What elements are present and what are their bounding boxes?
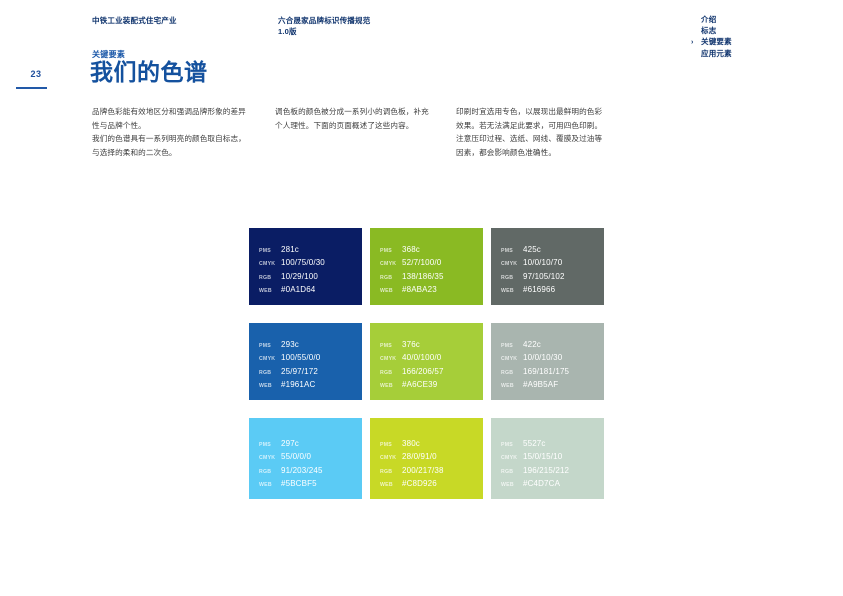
- spec-label-rgb: RGB: [380, 368, 402, 380]
- body-column-printing-notes: 印刷时宜选用专色，以展现出最鲜明的色彩效果。若无法满足此要求，可用四色印刷。 注…: [456, 105, 608, 159]
- spec-label-pms: PMS: [259, 341, 281, 353]
- swatch-spec-web: WEB #A6CE39: [380, 379, 483, 393]
- header-document-info: 六合晟家品牌标识传播规范 1.0版: [278, 15, 370, 37]
- spec-value-rgb: 10/29/100: [281, 271, 318, 283]
- spec-value-cmyk: 15/0/15/10: [523, 451, 562, 463]
- spec-label-web: WEB: [380, 480, 402, 492]
- folio: 23: [16, 68, 56, 89]
- nav-item-label: 关键要素: [701, 37, 732, 46]
- spec-value-cmyk: 52/7/100/0: [402, 257, 441, 269]
- spec-label-web: WEB: [380, 381, 402, 393]
- header-document-version: 1.0版: [278, 26, 370, 37]
- nav-item-label: 应用元素: [701, 49, 732, 58]
- section-nav: › 介绍 › 标志 › 关键要素 › 应用元素: [691, 14, 801, 59]
- swatch-spec-rgb: RGB 200/217/38: [380, 465, 483, 479]
- spec-value-web: #1961AC: [281, 379, 315, 391]
- swatch-spec-pms: PMS 5527c: [501, 438, 604, 452]
- nav-item-introduction[interactable]: › 介绍: [691, 14, 801, 25]
- swatch-297c[interactable]: PMS 297c CMYK 55/0/0/0 RGB 91/203/245 WE…: [249, 418, 362, 499]
- spec-label-rgb: RGB: [259, 368, 281, 380]
- spec-label-pms: PMS: [380, 440, 402, 452]
- swatch-spec-cmyk: CMYK 10/0/10/30: [501, 352, 604, 366]
- swatch-spec-cmyk: CMYK 55/0/0/0: [259, 451, 362, 465]
- page-number: 23: [16, 68, 56, 80]
- swatch-293c[interactable]: PMS 293c CMYK 100/55/0/0 RGB 25/97/172 W…: [249, 323, 362, 400]
- swatch-368c[interactable]: PMS 368c CMYK 52/7/100/0 RGB 138/186/35 …: [370, 228, 483, 305]
- swatch-spec-pms: PMS 422c: [501, 339, 604, 353]
- spec-value-rgb: 169/181/175: [523, 366, 569, 378]
- spec-label-cmyk: CMYK: [501, 453, 523, 465]
- body-paragraph: 我们的色谱具有一系列明亮的颜色取自标志，与选择的柔和的二次色。: [92, 132, 252, 159]
- spec-value-cmyk: 55/0/0/0: [281, 451, 311, 463]
- swatch-spec-web: WEB #5BCBF5: [259, 478, 362, 492]
- swatch-spec-rgb: RGB 166/206/57: [380, 366, 483, 380]
- spec-label-web: WEB: [501, 381, 523, 393]
- spec-label-rgb: RGB: [501, 368, 523, 380]
- swatch-spec-pms: PMS 380c: [380, 438, 483, 452]
- spec-value-cmyk: 100/55/0/0: [281, 352, 320, 364]
- spec-value-web: #616966: [523, 284, 555, 296]
- folio-rule: [16, 87, 47, 89]
- spec-value-web: #0A1D64: [281, 284, 315, 296]
- nav-item-label: 标志: [701, 26, 716, 35]
- swatch-spec-web: WEB #0A1D64: [259, 284, 362, 298]
- swatch-spec-rgb: RGB 25/97/172: [259, 366, 362, 380]
- swatch-spec-pms: PMS 368c: [380, 244, 483, 258]
- spec-value-cmyk: 10/0/10/30: [523, 352, 562, 364]
- header-document-title: 六合晟家品牌标识传播规范: [278, 16, 370, 25]
- body-paragraph: 调色板的颜色被分成一系列小的调色板，补充个人理性。下面的页面概述了这些内容。: [275, 105, 435, 132]
- swatch-spec-web: WEB #8ABA23: [380, 284, 483, 298]
- swatch-spec-rgb: RGB 196/215/212: [501, 465, 604, 479]
- spec-value-web: #5BCBF5: [281, 478, 317, 490]
- spec-label-pms: PMS: [501, 246, 523, 258]
- body-paragraph: 印刷时宜选用专色，以展现出最鲜明的色彩效果。若无法满足此要求，可用四色印刷。: [456, 105, 608, 132]
- spec-value-rgb: 138/186/35: [402, 271, 444, 283]
- spec-value-pms: 422c: [523, 339, 541, 351]
- nav-item-key-elements[interactable]: › 关键要素: [691, 36, 801, 47]
- swatch-spec-cmyk: CMYK 28/0/91/0: [380, 451, 483, 465]
- spec-label-cmyk: CMYK: [380, 354, 402, 366]
- spec-label-cmyk: CMYK: [380, 259, 402, 271]
- spec-value-pms: 297c: [281, 438, 299, 450]
- page-title: 我们的色谱: [90, 59, 208, 86]
- swatch-spec-pms: PMS 281c: [259, 244, 362, 258]
- swatch-spec-pms: PMS 293c: [259, 339, 362, 353]
- spec-value-web: #C4D7CA: [523, 478, 560, 490]
- spec-value-web: #A9B5AF: [523, 379, 558, 391]
- swatch-5527c[interactable]: PMS 5527c CMYK 15/0/15/10 RGB 196/215/21…: [491, 418, 604, 499]
- swatch-281c[interactable]: PMS 281c CMYK 100/75/0/30 RGB 10/29/100 …: [249, 228, 362, 305]
- spec-value-rgb: 97/105/102: [523, 271, 565, 283]
- spec-label-cmyk: CMYK: [259, 259, 281, 271]
- body-column-intro: 品牌色彩能有效地区分和强调品牌形象的差异性与品牌个性。 我们的色谱具有一系列明亮…: [92, 105, 252, 159]
- spec-value-pms: 376c: [402, 339, 420, 351]
- body-paragraph: 注意压印过程、选纸、网线、覆膜及过油等因素，都会影响颜色准确性。: [456, 132, 608, 159]
- color-swatch-grid: PMS 281c CMYK 100/75/0/30 RGB 10/29/100 …: [249, 228, 608, 499]
- spec-value-cmyk: 40/0/100/0: [402, 352, 441, 364]
- spec-label-cmyk: CMYK: [380, 453, 402, 465]
- spec-label-rgb: RGB: [380, 273, 402, 285]
- brand-guideline-page: 23 中铁工业装配式住宅产业 六合晟家品牌标识传播规范 1.0版 › 介绍 › …: [0, 0, 843, 596]
- spec-label-pms: PMS: [501, 341, 523, 353]
- spec-label-pms: PMS: [380, 246, 402, 258]
- spec-value-web: #A6CE39: [402, 379, 437, 391]
- spec-label-rgb: RGB: [501, 467, 523, 479]
- swatch-spec-web: WEB #1961AC: [259, 379, 362, 393]
- body-column-palette-structure: 调色板的颜色被分成一系列小的调色板，补充个人理性。下面的页面概述了这些内容。: [275, 105, 435, 132]
- spec-label-cmyk: CMYK: [501, 354, 523, 366]
- swatch-425c[interactable]: PMS 425c CMYK 10/0/10/70 RGB 97/105/102 …: [491, 228, 604, 305]
- spec-value-pms: 380c: [402, 438, 420, 450]
- spec-label-web: WEB: [501, 286, 523, 298]
- spec-value-rgb: 25/97/172: [281, 366, 318, 378]
- swatch-row: PMS 297c CMYK 55/0/0/0 RGB 91/203/245 WE…: [249, 418, 608, 499]
- spec-label-cmyk: CMYK: [259, 354, 281, 366]
- spec-value-rgb: 196/215/212: [523, 465, 569, 477]
- spec-label-rgb: RGB: [501, 273, 523, 285]
- spec-value-pms: 425c: [523, 244, 541, 256]
- swatch-spec-web: WEB #C8D926: [380, 478, 483, 492]
- swatch-spec-pms: PMS 376c: [380, 339, 483, 353]
- nav-item-logo[interactable]: › 标志: [691, 25, 801, 36]
- swatch-spec-rgb: RGB 169/181/175: [501, 366, 604, 380]
- spec-label-web: WEB: [501, 480, 523, 492]
- swatch-row: PMS 281c CMYK 100/75/0/30 RGB 10/29/100 …: [249, 228, 608, 305]
- body-paragraph: 品牌色彩能有效地区分和强调品牌形象的差异性与品牌个性。: [92, 105, 252, 132]
- spec-value-cmyk: 28/0/91/0: [402, 451, 437, 463]
- swatch-spec-rgb: RGB 91/203/245: [259, 465, 362, 479]
- spec-value-web: #C8D926: [402, 478, 437, 490]
- swatch-spec-cmyk: CMYK 15/0/15/10: [501, 451, 604, 465]
- spec-value-rgb: 166/206/57: [402, 366, 444, 378]
- swatch-spec-web: WEB #616966: [501, 284, 604, 298]
- spec-label-rgb: RGB: [380, 467, 402, 479]
- nav-item-application-elements[interactable]: › 应用元素: [691, 48, 801, 59]
- spec-value-pms: 281c: [281, 244, 299, 256]
- nav-item-label: 介绍: [701, 15, 716, 24]
- swatch-spec-pms: PMS 297c: [259, 438, 362, 452]
- spec-value-rgb: 200/217/38: [402, 465, 444, 477]
- spec-value-pms: 293c: [281, 339, 299, 351]
- spec-label-web: WEB: [259, 381, 281, 393]
- spec-label-web: WEB: [380, 286, 402, 298]
- spec-label-web: WEB: [259, 480, 281, 492]
- swatch-spec-web: WEB #A9B5AF: [501, 379, 604, 393]
- spec-label-cmyk: CMYK: [259, 453, 281, 465]
- swatch-spec-cmyk: CMYK 100/55/0/0: [259, 352, 362, 366]
- swatch-spec-rgb: RGB 10/29/100: [259, 271, 362, 285]
- swatch-422c[interactable]: PMS 422c CMYK 10/0/10/30 RGB 169/181/175…: [491, 323, 604, 400]
- spec-label-pms: PMS: [259, 440, 281, 452]
- swatch-spec-rgb: RGB 138/186/35: [380, 271, 483, 285]
- spec-label-pms: PMS: [501, 440, 523, 452]
- header-company-name: 中铁工业装配式住宅产业: [92, 15, 177, 26]
- spec-label-pms: PMS: [380, 341, 402, 353]
- spec-label-cmyk: CMYK: [501, 259, 523, 271]
- swatch-row: PMS 293c CMYK 100/55/0/0 RGB 25/97/172 W…: [249, 323, 608, 400]
- spec-label-rgb: RGB: [259, 273, 281, 285]
- spec-label-pms: PMS: [259, 246, 281, 258]
- spec-value-cmyk: 100/75/0/30: [281, 257, 325, 269]
- swatch-376c[interactable]: PMS 376c CMYK 40/0/100/0 RGB 166/206/57 …: [370, 323, 483, 400]
- swatch-spec-web: WEB #C4D7CA: [501, 478, 604, 492]
- swatch-spec-pms: PMS 425c: [501, 244, 604, 258]
- swatch-spec-rgb: RGB 97/105/102: [501, 271, 604, 285]
- spec-value-web: #8ABA23: [402, 284, 437, 296]
- spec-label-web: WEB: [259, 286, 281, 298]
- spec-value-pms: 368c: [402, 244, 420, 256]
- swatch-spec-cmyk: CMYK 100/75/0/30: [259, 257, 362, 271]
- swatch-spec-cmyk: CMYK 10/0/10/70: [501, 257, 604, 271]
- spec-value-rgb: 91/203/245: [281, 465, 323, 477]
- spec-value-cmyk: 10/0/10/70: [523, 257, 562, 269]
- swatch-spec-cmyk: CMYK 52/7/100/0: [380, 257, 483, 271]
- spec-label-rgb: RGB: [259, 467, 281, 479]
- swatch-spec-cmyk: CMYK 40/0/100/0: [380, 352, 483, 366]
- spec-value-pms: 5527c: [523, 438, 546, 450]
- swatch-380c[interactable]: PMS 380c CMYK 28/0/91/0 RGB 200/217/38 W…: [370, 418, 483, 499]
